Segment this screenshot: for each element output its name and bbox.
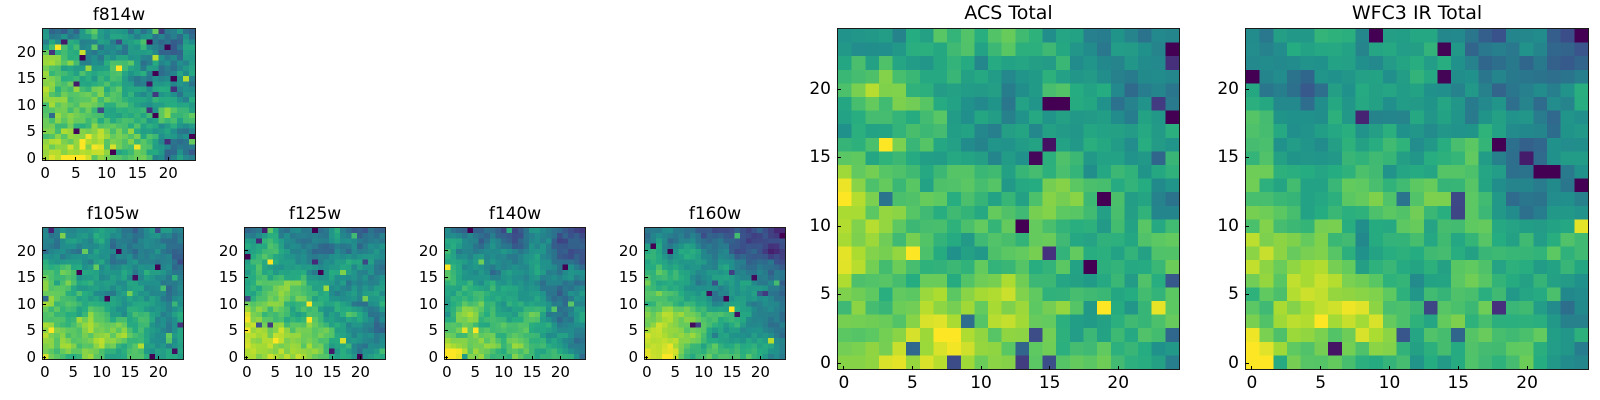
heatmap-panel-f814w: f814w0510152005101520 [42,28,196,161]
y-tick-mark [644,330,648,331]
axes-frame [837,28,1180,370]
x-tick-label: 15 [1030,373,1070,393]
y-tick-mark [837,363,841,364]
x-tick-mark [503,356,504,360]
x-tick-mark [1527,366,1528,370]
x-tick-label: 0 [824,373,864,393]
heatmap-panel-f140w: f140w0510152005101520 [444,227,586,360]
y-tick-mark [644,304,648,305]
x-tick-mark [912,366,913,370]
y-tick-label: 10 [198,295,238,313]
y-tick-mark [444,357,448,358]
y-tick-mark [42,131,46,132]
y-tick-mark [42,277,46,278]
y-tick-mark [444,330,448,331]
x-tick-label: 0 [1232,373,1272,393]
heatmap-image [245,228,385,359]
y-tick-mark [1245,89,1249,90]
x-tick-mark [168,157,169,161]
x-tick-mark [532,356,533,360]
heatmap-panel-acs-total: ACS Total0510152005101520 [837,28,1180,370]
x-tick-mark [332,356,333,360]
heatmap-image [445,228,585,359]
x-tick-mark [360,356,361,360]
y-tick-label: 15 [1199,147,1239,167]
y-tick-label: 20 [398,242,438,260]
axes-frame [244,227,386,360]
y-tick-label: 0 [791,353,831,373]
y-tick-label: 15 [398,268,438,286]
y-tick-label: 15 [791,147,831,167]
panel-title: f160w [644,204,786,224]
y-tick-label: 5 [598,321,638,339]
y-tick-label: 0 [398,348,438,366]
x-tick-label: 5 [1301,373,1341,393]
y-tick-mark [1245,363,1249,364]
y-tick-label: 20 [791,79,831,99]
y-tick-mark [42,330,46,331]
x-tick-mark [703,356,704,360]
y-tick-mark [244,330,248,331]
y-tick-label: 15 [0,69,36,87]
x-tick-label: 10 [1369,373,1409,393]
x-tick-label: 5 [892,373,932,393]
y-tick-label: 5 [0,321,36,339]
panel-title: f125w [244,204,386,224]
y-tick-label: 10 [398,295,438,313]
y-tick-label: 10 [1199,216,1239,236]
y-tick-label: 0 [0,149,36,167]
panel-title: f814w [42,5,196,25]
y-tick-label: 15 [198,268,238,286]
panel-title: f105w [42,204,184,224]
x-tick-mark [1320,366,1321,370]
y-tick-label: 15 [0,268,36,286]
y-tick-label: 5 [791,284,831,304]
panel-title: ACS Total [837,2,1180,24]
y-tick-mark [42,78,46,79]
y-tick-label: 5 [398,321,438,339]
y-tick-mark [244,277,248,278]
x-tick-label: 20 [138,363,178,381]
heatmap-panel-f125w: f125w0510152005101520 [244,227,386,360]
x-tick-mark [101,356,102,360]
x-tick-mark [137,157,138,161]
y-tick-label: 10 [598,295,638,313]
y-tick-mark [837,157,841,158]
y-tick-mark [837,294,841,295]
x-tick-label: 10 [961,373,1001,393]
heatmap-panel-f160w: f160w0510152005101520 [644,227,786,360]
y-tick-label: 10 [0,96,36,114]
y-tick-label: 5 [198,321,238,339]
x-tick-mark [560,356,561,360]
heatmap-image [838,29,1179,369]
heatmap-panel-f105w: f105w0510152005101520 [42,227,184,360]
x-tick-mark [1251,366,1252,370]
heatmap-image [1246,29,1588,369]
heatmap-image [43,29,195,160]
y-tick-mark [444,277,448,278]
x-tick-mark [303,356,304,360]
axes-frame [644,227,786,360]
x-tick-mark [843,366,844,370]
x-tick-mark [130,356,131,360]
x-tick-mark [760,356,761,360]
x-tick-label: 20 [148,164,188,182]
y-tick-mark [42,357,46,358]
y-tick-mark [644,357,648,358]
y-tick-label: 0 [598,348,638,366]
y-tick-label: 20 [198,242,238,260]
y-tick-label: 20 [0,242,36,260]
x-tick-mark [75,157,76,161]
x-tick-mark [73,356,74,360]
x-tick-label: 20 [540,363,580,381]
axes-frame [42,28,196,161]
x-tick-mark [1049,366,1050,370]
y-tick-label: 20 [598,242,638,260]
y-tick-mark [42,304,46,305]
y-tick-label: 20 [0,43,36,61]
y-tick-label: 0 [1199,353,1239,373]
y-tick-mark [42,105,46,106]
y-tick-mark [244,304,248,305]
x-tick-label: 20 [1098,373,1138,393]
y-tick-label: 5 [0,122,36,140]
x-tick-mark [1118,366,1119,370]
axes-frame [444,227,586,360]
y-tick-mark [244,250,248,251]
panel-title: WFC3 IR Total [1245,2,1589,24]
x-tick-mark [981,366,982,370]
y-tick-mark [42,158,46,159]
y-tick-mark [837,226,841,227]
y-tick-mark [1245,226,1249,227]
x-tick-label: 20 [340,363,380,381]
y-tick-label: 0 [198,348,238,366]
y-tick-mark [644,277,648,278]
x-tick-mark [1389,366,1390,370]
x-tick-mark [732,356,733,360]
y-tick-mark [644,250,648,251]
y-tick-mark [444,304,448,305]
axes-frame [42,227,184,360]
y-tick-label: 15 [598,268,638,286]
y-tick-label: 10 [0,295,36,313]
y-tick-label: 20 [1199,79,1239,99]
heatmap-image [43,228,183,359]
x-tick-label: 15 [1438,373,1478,393]
y-tick-mark [42,250,46,251]
y-tick-mark [1245,294,1249,295]
x-tick-mark [475,356,476,360]
y-tick-mark [1245,157,1249,158]
y-tick-label: 5 [1199,284,1239,304]
y-tick-label: 0 [0,348,36,366]
heatmap-image [645,228,785,359]
x-tick-mark [275,356,276,360]
x-tick-mark [1458,366,1459,370]
x-tick-mark [158,356,159,360]
x-tick-mark [106,157,107,161]
y-tick-mark [244,357,248,358]
y-tick-mark [42,51,46,52]
y-tick-mark [837,89,841,90]
x-tick-mark [675,356,676,360]
axes-frame [1245,28,1589,370]
x-tick-label: 20 [740,363,780,381]
x-tick-label: 20 [1507,373,1547,393]
panel-title: f140w [444,204,586,224]
y-tick-mark [444,250,448,251]
heatmap-panel-wfc3-ir-total: WFC3 IR Total0510152005101520 [1245,28,1589,370]
y-tick-label: 10 [791,216,831,236]
